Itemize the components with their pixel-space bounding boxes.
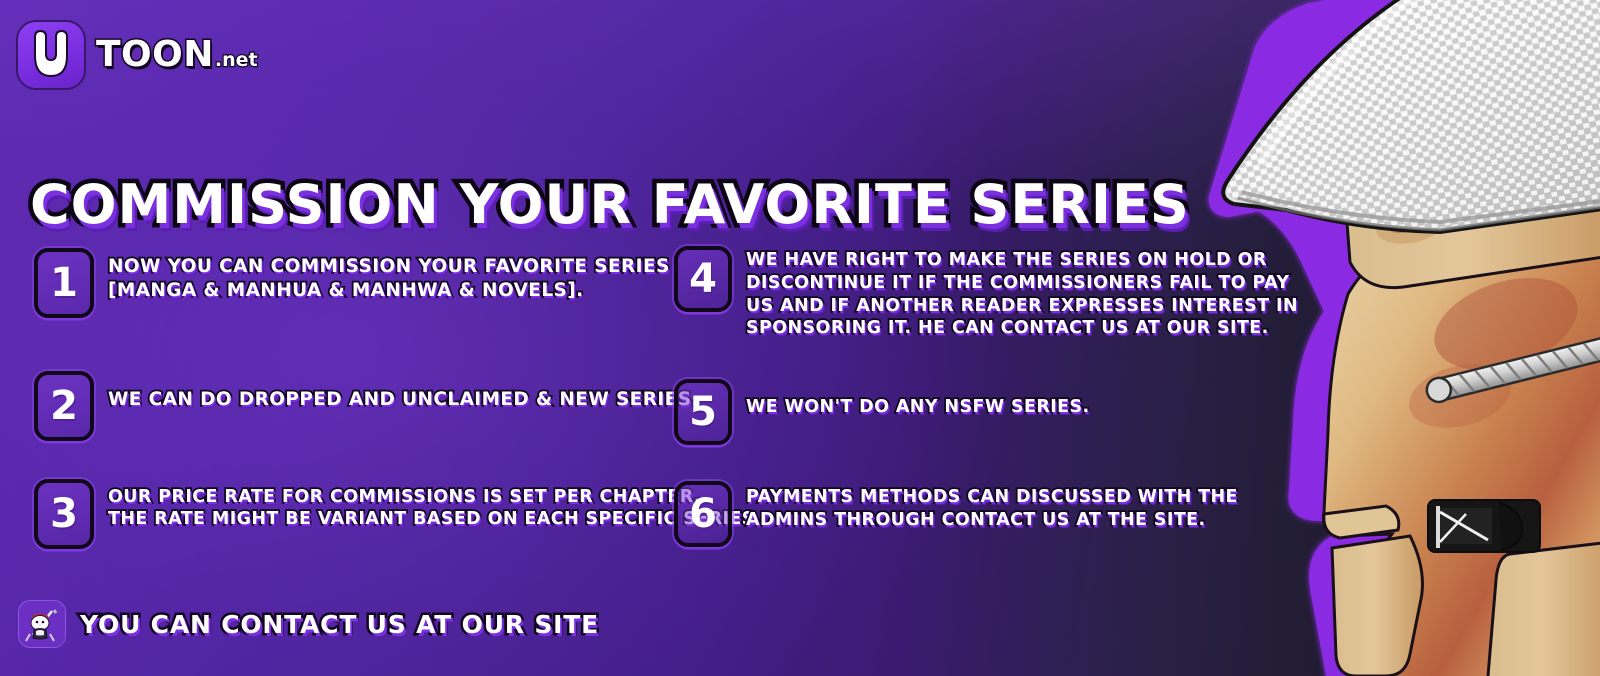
rule-text-line: OUR PRICE RATE FOR COMMISSIONS IS SET PE… <box>108 486 762 508</box>
rule-text-line: ADMINS THROUGH CONTACT US AT THE SITE. <box>746 509 1238 532</box>
rule-number-badge: 3 <box>34 479 94 549</box>
rule-text: WE CAN DO DROPPED AND UNCLAIMED & NEW SE… <box>108 371 699 412</box>
list-item: 2 WE CAN DO DROPPED AND UNCLAIMED & NEW … <box>34 371 674 441</box>
rule-text-line: SPONSORING IT. HE CAN CONTACT US AT OUR … <box>746 317 1298 340</box>
rule-text: WE HAVE RIGHT TO MAKE THE SERIES ON HOLD… <box>746 246 1298 340</box>
rule-number: 5 <box>689 392 717 432</box>
rule-text-line: WE CAN DO DROPPED AND UNCLAIMED & NEW SE… <box>108 388 699 412</box>
logo-wordmark: TOON .net <box>96 37 258 73</box>
rule-number: 1 <box>50 263 78 303</box>
rule-number: 2 <box>50 386 78 426</box>
rule-text-line: DISCONTINUE IT IF THE COMMISSIONERS FAIL… <box>746 272 1298 295</box>
toon-crescent-icon <box>18 22 84 88</box>
rule-text: OUR PRICE RATE FOR COMMISSIONS IS SET PE… <box>108 479 762 531</box>
logo-tld: .net <box>215 51 258 70</box>
rule-number-badge: 1 <box>34 248 94 318</box>
commission-banner: TOON .net COMMISSION YOUR FAVORITE SERIE… <box>0 0 1600 676</box>
list-item: 1 NOW YOU CAN COMMISSION YOUR FAVORITE S… <box>34 248 674 318</box>
rule-text-line: THE RATE MIGHT BE VARIANT BASED ON EACH … <box>108 508 762 530</box>
rule-text-line: US AND IF ANOTHER READER EXPRESSES INTER… <box>746 295 1298 318</box>
contact-us-label: YOU CAN CONTACT US AT OUR SITE <box>80 610 599 639</box>
rule-number-badge: 5 <box>674 379 732 445</box>
rule-text-line: WE HAVE RIGHT TO MAKE THE SERIES ON HOLD… <box>746 249 1298 272</box>
samurai-cat-avatar-icon <box>18 600 66 648</box>
rule-text-line: [MANGA & MANHUA & MANHWA & NOVELS]. <box>108 279 670 303</box>
rule-number-badge: 6 <box>674 481 732 547</box>
rule-text-line: NOW YOU CAN COMMISSION YOUR FAVORITE SER… <box>108 255 670 279</box>
rule-number-badge: 4 <box>674 246 732 312</box>
rule-number: 3 <box>50 494 78 534</box>
list-item: 6 PAYMENTS METHODS CAN DISCUSSED WITH TH… <box>674 481 1234 547</box>
rule-number: 6 <box>689 494 717 534</box>
rule-text: PAYMENTS METHODS CAN DISCUSSED WITH THE … <box>746 481 1238 532</box>
site-logo[interactable]: TOON .net <box>18 22 258 88</box>
rule-text: NOW YOU CAN COMMISSION YOUR FAVORITE SER… <box>108 248 670 302</box>
rule-text-line: PAYMENTS METHODS CAN DISCUSSED WITH THE <box>746 486 1238 509</box>
list-item: 5 WE WON'T DO ANY NSFW SERIES. <box>674 379 1234 445</box>
rule-number-badge: 2 <box>34 371 94 441</box>
rule-number: 4 <box>689 259 717 299</box>
page-title: COMMISSION YOUR FAVORITE SERIES <box>30 178 1190 232</box>
list-item: 4 WE HAVE RIGHT TO MAKE THE SERIES ON HO… <box>674 246 1234 340</box>
contact-us-row[interactable]: YOU CAN CONTACT US AT OUR SITE <box>18 600 599 648</box>
rule-text: WE WON'T DO ANY NSFW SERIES. <box>746 379 1090 419</box>
rule-text-line: WE WON'T DO ANY NSFW SERIES. <box>746 396 1090 419</box>
list-item: 3 OUR PRICE RATE FOR COMMISSIONS IS SET … <box>34 479 674 549</box>
logo-name: TOON <box>96 37 214 73</box>
